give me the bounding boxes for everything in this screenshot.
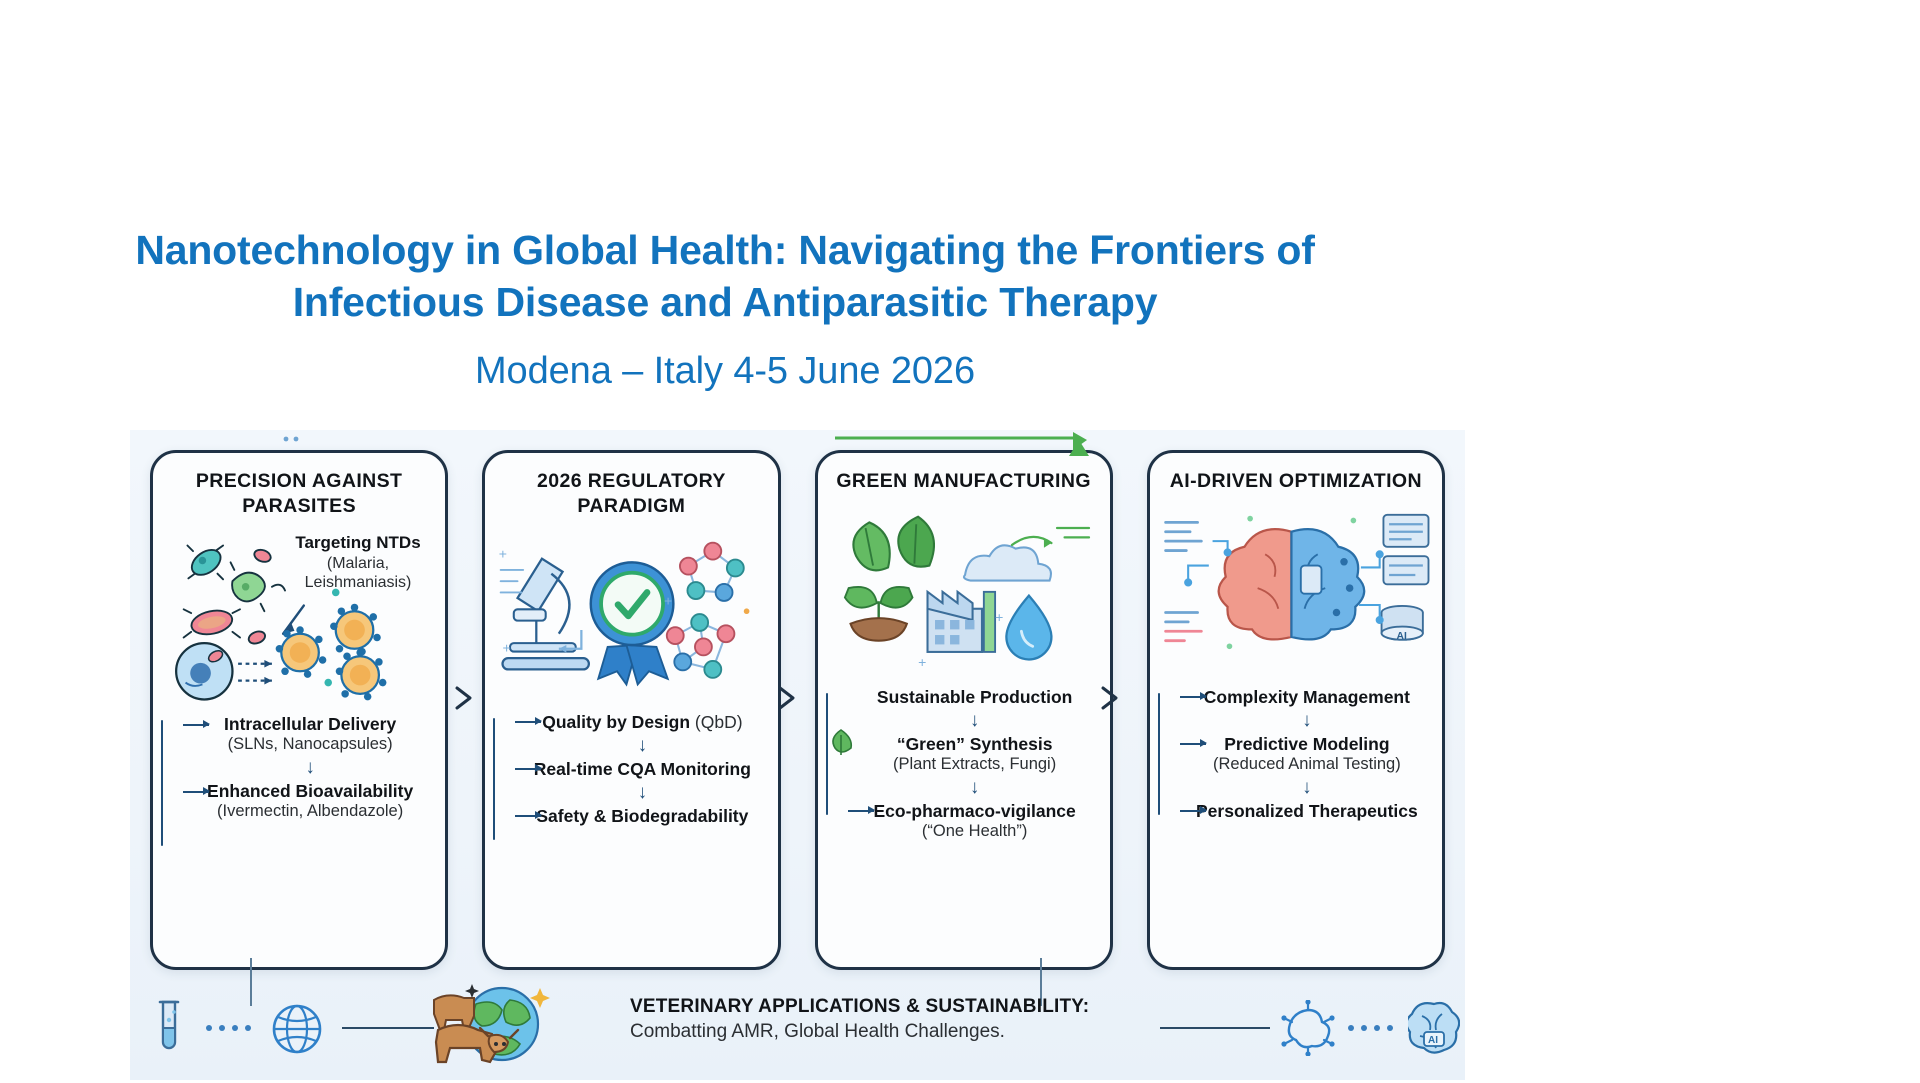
page-title: Nanotechnology in Global Health: Navigat… (0, 225, 1450, 328)
list-item-title: Enhanced Bioavailability (185, 781, 435, 802)
svg-text:+: + (664, 592, 672, 608)
list-item[interactable]: Enhanced Bioavailability (Ivermectin, Al… (185, 781, 435, 822)
microscope-icon (501, 559, 589, 670)
ai-chip-icon (1280, 1000, 1336, 1056)
footer-dots-right (1348, 1025, 1393, 1031)
list-item[interactable]: Personalized Therapeutics (1182, 801, 1432, 822)
connector-arrow-icon (515, 721, 541, 723)
connector-arrow-icon (515, 768, 541, 770)
list-item-title: Complexity Management (1182, 687, 1432, 708)
water-drop-icon (1006, 596, 1051, 660)
ai-brain-icon: AI (1408, 998, 1460, 1056)
card-title: PRECISION AGAINST PARASITES (163, 469, 435, 519)
flow-down-arrow-icon: ↓ (185, 758, 435, 777)
slide-root: Nanotechnology in Global Health: Navigat… (0, 0, 1920, 1080)
list-item-sub: (SLNs, Nanocapsules) (185, 735, 435, 755)
card-artwork: AI (1160, 502, 1432, 677)
card-artwork: Targeting NTDs (Malaria, Leishmaniasis) (163, 527, 435, 702)
list-item-title: Safety & Biodegradability (517, 806, 767, 827)
footer-rule-right (1160, 1027, 1270, 1029)
connector-spine (161, 720, 163, 846)
card-title: AI-DRIVEN OPTIMIZATION (1160, 469, 1432, 494)
flow-down-arrow-icon: ↓ (1182, 711, 1432, 730)
list-item-sub: (Plant Extracts, Fungi) (850, 755, 1100, 775)
connector-arrow-icon (1180, 810, 1206, 812)
card-title: 2026 REGULATORY PARADIGM (495, 469, 767, 519)
globe-grid-icon (270, 1002, 324, 1056)
list-item[interactable]: Eco-pharmaco-vigilance (“One Health”) (850, 801, 1100, 842)
svg-text:+: + (995, 609, 1003, 625)
nanoparticle-icon (276, 589, 387, 701)
list-item-title: Quality by Design (QbD) (517, 712, 767, 733)
chevron-right-icon-3 (1098, 685, 1124, 711)
card-item-list: Intracellular Delivery (SLNs, Nanocapsul… (163, 708, 435, 957)
top-dots-icon (280, 430, 340, 448)
title-block: Nanotechnology in Global Health: Navigat… (0, 225, 1450, 393)
molecule-icon (667, 543, 744, 678)
cell-icon (176, 643, 232, 699)
list-item-sub: (Reduced Animal Testing) (1182, 755, 1432, 775)
art-label-sub: (Malaria, Leishmaniasis) (278, 554, 438, 593)
connector-arrow-icon (183, 724, 209, 726)
connector-arrow-icon (183, 791, 209, 793)
card-ai-driven-optimization[interactable]: AI-DRIVEN OPTIMIZATION (1147, 450, 1445, 970)
footer-heading: VETERINARY APPLICATIONS & SUSTAINABILITY… (630, 996, 1150, 1018)
card-precision-against-parasites[interactable]: PRECISION AGAINST PARASITES (150, 450, 448, 970)
list-item-title: “Green” Synthesis (850, 734, 1100, 755)
small-leaf-icon (824, 727, 858, 761)
connector-arrow-icon (1180, 743, 1206, 745)
list-item-title-suffix: (QbD) (690, 712, 743, 732)
card-2026-regulatory-paradigm[interactable]: 2026 REGULATORY PARADIGM (482, 450, 780, 970)
flow-down-arrow-icon: ↓ (850, 778, 1100, 797)
footer-rule-left (342, 1027, 434, 1029)
svg-text:+: + (499, 546, 507, 562)
plant-icon (844, 587, 912, 641)
ai-badge-label: AI (1396, 631, 1406, 642)
footer-subheading: Combatting AMR, Global Health Challenges… (630, 1021, 1150, 1043)
card-artwork: ++ (828, 502, 1100, 677)
recycle-arrow-icon (1012, 528, 1089, 548)
card-title: GREEN MANUFACTURING (828, 469, 1100, 494)
list-item[interactable]: Quality by Design (QbD) (517, 712, 767, 733)
list-item[interactable]: “Green” Synthesis (Plant Extracts, Fungi… (850, 734, 1100, 775)
list-item[interactable]: Complexity Management (1182, 687, 1432, 708)
list-item[interactable]: Predictive Modeling (Reduced Animal Test… (1182, 734, 1432, 775)
page-title-line-2: Infectious Disease and Antiparasitic The… (0, 277, 1450, 329)
list-item-title: Intracellular Delivery (185, 714, 435, 735)
test-tube-icon (150, 998, 188, 1060)
art-label-targeting-ntds: Targeting NTDs (Malaria, Leishmaniasis) (278, 533, 438, 593)
card-item-list: Sustainable Production ↓ “Green” Synthes… (828, 683, 1100, 957)
page-subtitle: Modena – Italy 4-5 June 2026 (0, 350, 1450, 393)
list-item[interactable]: Safety & Biodegradability (517, 806, 767, 827)
list-item-title: Sustainable Production (850, 687, 1100, 708)
list-item[interactable]: Real-time CQA Monitoring (517, 759, 767, 780)
factory-icon (927, 592, 995, 652)
card-item-list: Complexity Management ↓ Predictive Model… (1160, 683, 1432, 957)
list-item-sub: (“One Health”) (850, 822, 1100, 842)
list-item[interactable]: Sustainable Production (850, 687, 1100, 708)
database-icon: AI (1381, 606, 1422, 642)
top-flow-arrow-icon (835, 428, 1095, 462)
bacteria-icon (184, 545, 285, 646)
footer-text-block: VETERINARY APPLICATIONS & SUSTAINABILITY… (630, 996, 1150, 1043)
cloud-icon (963, 545, 1050, 580)
table-panel-icon (1383, 515, 1428, 584)
flow-down-arrow-icon: ↓ (517, 736, 767, 755)
svg-text:AI: AI (1428, 1035, 1438, 1046)
page-title-line-1: Nanotechnology in Global Health: Navigat… (0, 225, 1450, 277)
flow-down-arrow-icon: ↓ (517, 783, 767, 802)
brain-icon (1218, 529, 1364, 639)
footer-tick-left (250, 958, 252, 1006)
footer-dots-left (206, 1025, 251, 1031)
list-item[interactable]: Intracellular Delivery (SLNs, Nanocapsul… (185, 714, 435, 755)
connector-spine (1158, 693, 1160, 815)
quality-badge-icon (591, 562, 674, 684)
list-item-title: Personalized Therapeutics (1182, 801, 1432, 822)
footer-band: VETERINARY APPLICATIONS & SUSTAINABILITY… (130, 970, 1465, 1080)
svg-text:+: + (503, 639, 511, 655)
list-item-title-text: Quality by Design (542, 712, 690, 732)
list-item-title: Real-time CQA Monitoring (517, 759, 767, 780)
connector-arrow-icon (848, 810, 874, 812)
card-artwork: +++ (495, 527, 767, 702)
card-item-list: Quality by Design (QbD) ↓ Real-time CQA … (495, 708, 767, 957)
data-panel-icon (1165, 522, 1201, 640)
cow-earth-icon (428, 974, 558, 1078)
flow-down-arrow-icon: ↓ (850, 711, 1100, 730)
art-label-main: Targeting NTDs (295, 533, 420, 552)
connector-spine (493, 718, 495, 840)
list-item-title: Eco-pharmaco-vigilance (850, 801, 1100, 822)
chevron-right-icon-1 (452, 685, 478, 711)
chevron-right-icon-2 (775, 685, 801, 711)
connector-arrow-icon (1180, 696, 1206, 698)
flow-down-arrow-icon: ↓ (1182, 778, 1432, 797)
list-item-sub: (Ivermectin, Albendazole) (185, 802, 435, 822)
leaf-icon (853, 517, 934, 571)
list-item-title: Predictive Modeling (1182, 734, 1432, 755)
connector-arrow-icon (515, 815, 541, 817)
svg-text:+: + (918, 654, 926, 670)
card-green-manufacturing[interactable]: GREEN MANUFACTURING (815, 450, 1113, 970)
infographic-canvas: PRECISION AGAINST PARASITES (130, 430, 1465, 1080)
